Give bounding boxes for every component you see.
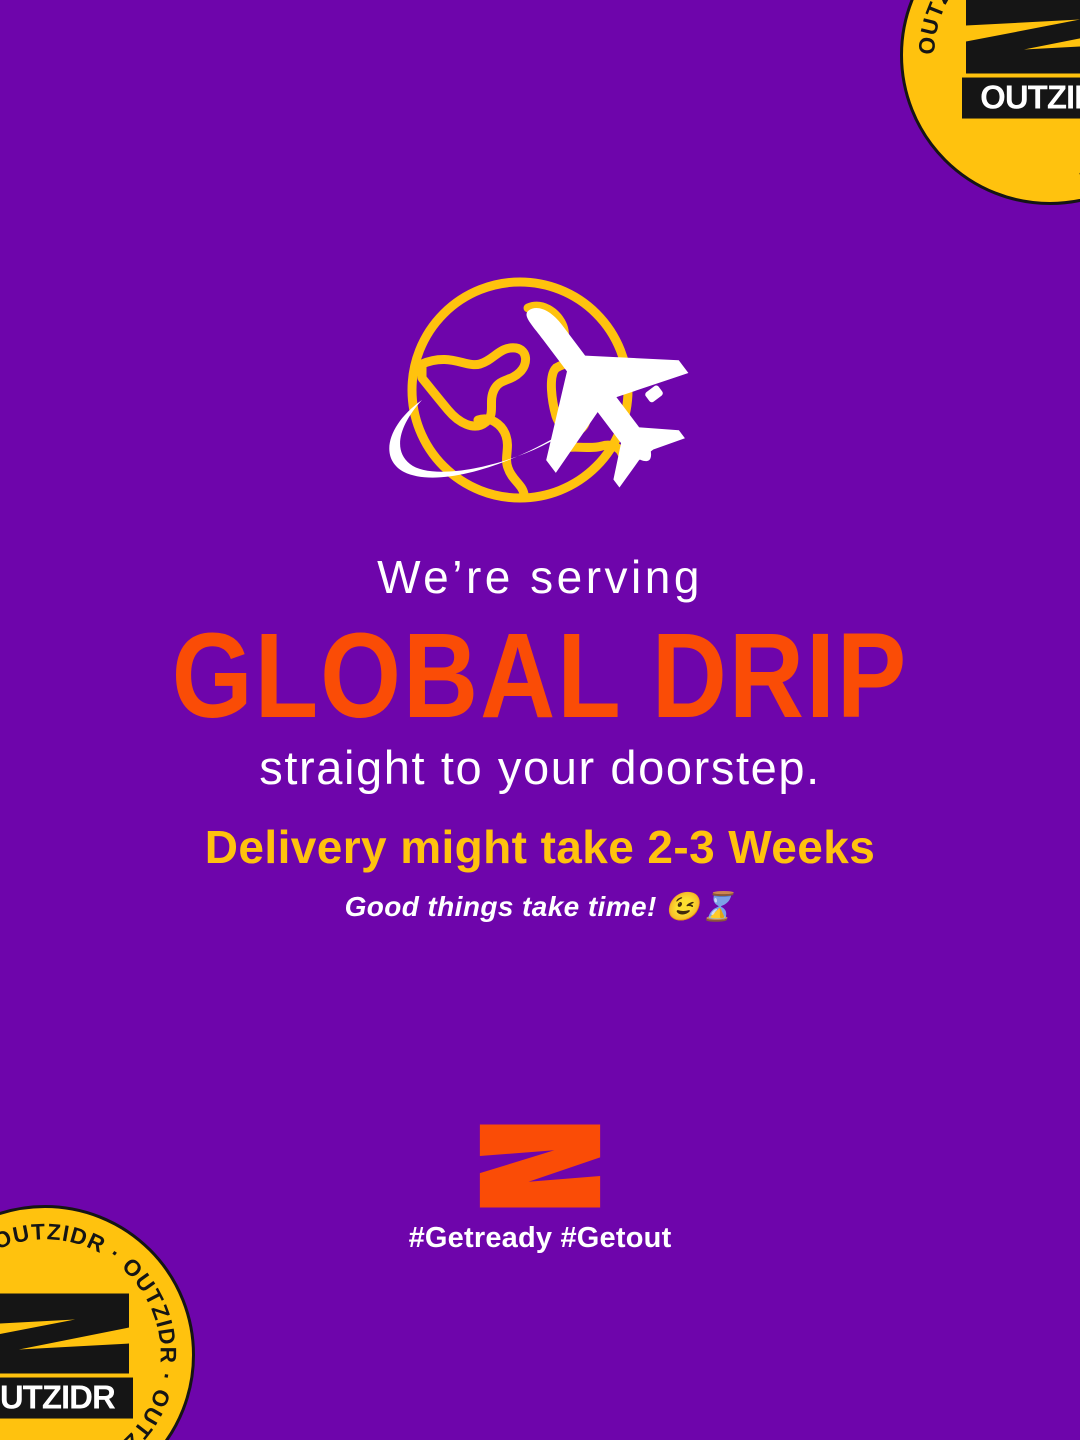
badge-wordmark: OUTZIDR (962, 78, 1080, 119)
headline-block: We’re serving GLOBAL DRIP straight to yo… (0, 552, 1080, 794)
badge-core: OUTZIDR (962, 0, 1080, 118)
delivery-block: Delivery might take 2-3 Weeks Good thing… (0, 822, 1080, 923)
headline-line-top: We’re serving (0, 552, 1080, 604)
badge-wordmark: OUTZIDR (0, 1378, 133, 1419)
headline-line-bottom: straight to your doorstep. (0, 742, 1080, 795)
footer-block: #Getready #Getout (0, 1122, 1080, 1255)
z-logo-icon (477, 1122, 603, 1210)
delivery-main-text: Delivery might take 2-3 Weeks (0, 822, 1080, 874)
globe-airplane-graphic (360, 272, 720, 512)
footer-hashtags: #Getready #Getout (0, 1222, 1080, 1255)
z-logo-icon (962, 0, 1080, 76)
poster-canvas: OUTZIDR · OUTZIDR · OUTZIDR · OUTZIDR · … (0, 0, 1080, 1440)
brand-badge-top-right: OUTZIDR · OUTZIDR · OUTZIDR · OUTZIDR · … (900, 0, 1080, 205)
headline-emphasis: GLOBAL DRIP (0, 616, 1080, 737)
delivery-sub-text: Good things take time! 😉⌛ (0, 890, 1080, 923)
z-logo-icon (0, 1292, 133, 1376)
hero-illustration (0, 272, 1080, 512)
badge-core: OUTZIDR (0, 1292, 133, 1419)
